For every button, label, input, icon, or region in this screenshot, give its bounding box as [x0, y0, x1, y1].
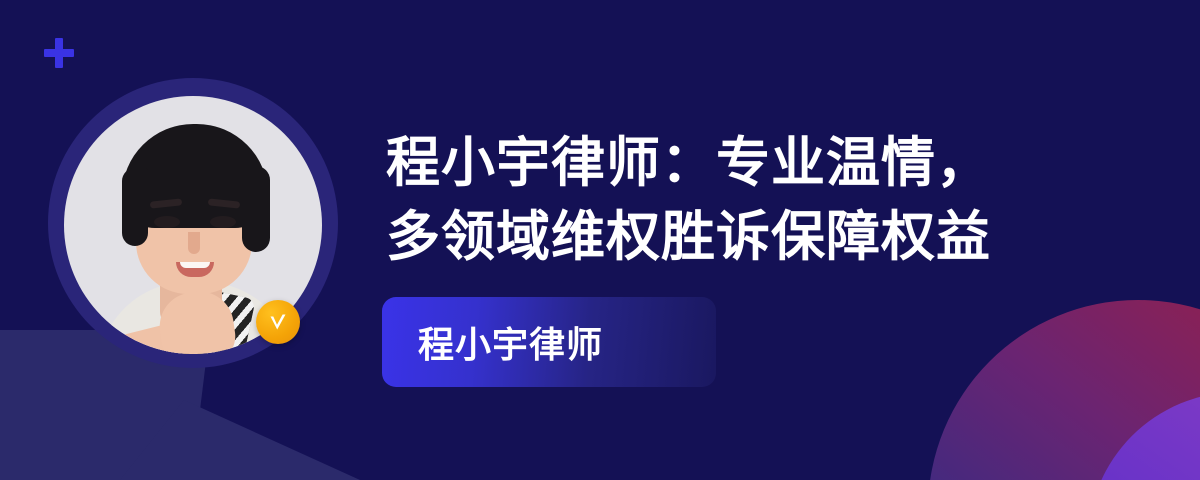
crimson-purple-circle	[928, 300, 1200, 480]
lawyer-name-label: 程小宇律师	[418, 316, 603, 368]
headline-line-2: 多领域维权胜诉保障权益	[386, 200, 1086, 274]
headline-line-1: 程小宇律师：专业温情，	[386, 126, 1086, 200]
plus-icon	[44, 38, 74, 68]
page-title: 程小宇律师：专业温情， 多领域维权胜诉保障权益	[386, 126, 1086, 274]
lawyer-promo-banner: 程小宇律师：专业温情， 多领域维权胜诉保障权益 程小宇律师	[0, 0, 1200, 480]
check-v-icon	[256, 300, 300, 344]
purple-circle	[1088, 392, 1200, 480]
triangle-wedge-shape	[120, 400, 360, 480]
avatar	[48, 78, 338, 388]
lawyer-name-badge[interactable]: 程小宇律师	[382, 297, 716, 387]
